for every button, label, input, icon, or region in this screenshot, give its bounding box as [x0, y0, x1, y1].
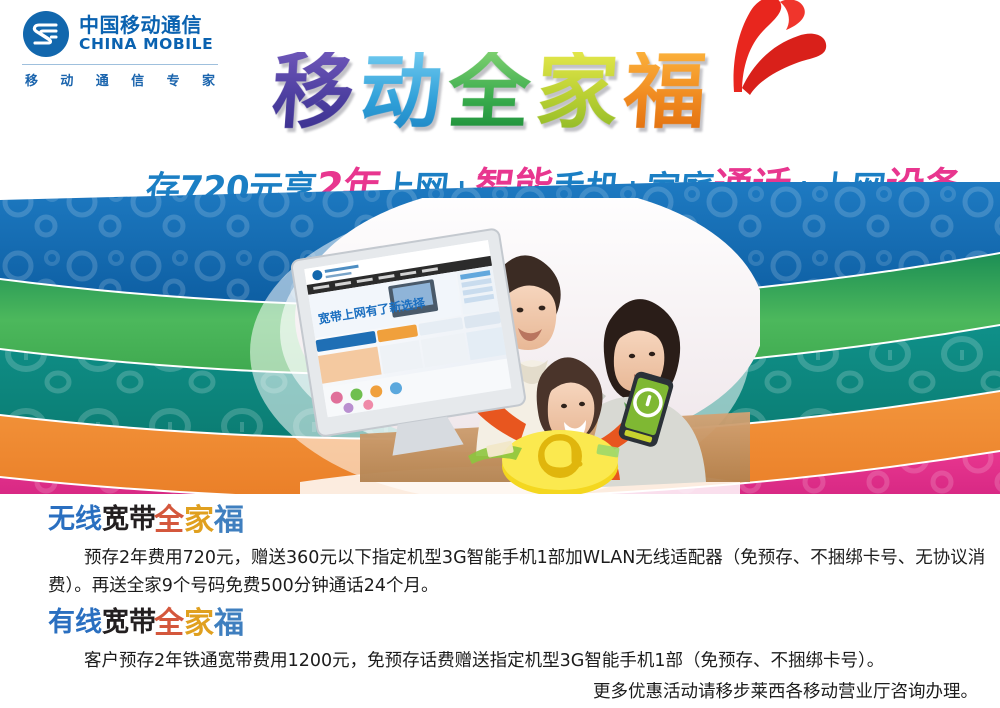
fu-wordmark-2: 全家福: [154, 609, 244, 639]
brand-logo-block: 中国移动通信 CHINA MOBILE 移 动 通 信 专 家: [22, 10, 222, 96]
offer-heading-prefix-blue-2: 有线: [48, 607, 102, 638]
fu-char2-2: 福: [214, 606, 244, 641]
brand-name-cn: 中国移动通信: [79, 15, 213, 36]
fu-char-2: 福: [214, 503, 244, 538]
at-sign-icon: [502, 430, 618, 494]
offer-section-wired: 有线宽带全家福 客户预存2年铁通宽带费用1200元，免预存话费赠送指定机型3G智…: [0, 607, 1000, 675]
brand-name-en: CHINA MOBILE: [79, 36, 213, 52]
hero-title-char-2: 全: [445, 52, 539, 134]
offer2-body-text-0: 客户预存2年铁通宽带费用1200元，免预存话费赠送指定机型3G智能手机1部（免预…: [84, 651, 884, 671]
fu-char-0: 全: [154, 503, 184, 538]
hero-title-char-4: 福: [621, 52, 715, 134]
brand-slogan: 移 动 通 信 专 家: [22, 70, 218, 89]
hero-title-char-0: 移: [269, 52, 363, 134]
offer-heading-prefix-blue: 无线: [48, 504, 102, 535]
slogan-char-1: 动: [60, 70, 73, 89]
footnote-text: 更多优惠活动请移步莱西各移动营业厅咨询办理。: [593, 678, 978, 703]
offer-body-text-0: 预存2年费用720元，赠送360元以下指定机型3G智能手机1部加WLAN无线适配…: [84, 548, 985, 568]
offer-body-line-0: 预存2年费用720元，赠送360元以下指定机型3G智能手机1部加WLAN无线适配…: [48, 544, 1000, 572]
fu-char2-1: 家: [184, 606, 214, 641]
offer-body-line-1: 费）。再送全家9个号码免费500分钟通话24个月。: [48, 572, 1000, 600]
fu-char-1: 家: [184, 503, 214, 538]
hero-title-char-1: 动: [357, 52, 451, 134]
slogan-char-0: 移: [25, 70, 38, 89]
offer-section-wireless: 无线宽带全家福 预存2年费用720元，赠送360元以下指定机型3G智能手机1部加…: [0, 504, 1000, 601]
slogan-char-3: 信: [131, 70, 144, 89]
offer2-body-line-0: 客户预存2年铁通宽带费用1200元，免预存话费赠送指定机型3G智能手机1部（免预…: [48, 647, 1000, 675]
slogan-char-2: 通: [96, 70, 109, 89]
offer-heading-wireless: 无线宽带全家福: [48, 504, 1000, 534]
logo-divider: [22, 64, 218, 65]
family-computer-photo: 宽带上网有了新选择: [280, 198, 760, 494]
hero-title: 移动全家福: [272, 52, 712, 134]
china-mobile-logo-icon: [22, 10, 70, 58]
offer-heading-prefix-dark-2: 宽带: [102, 607, 156, 638]
slogan-char-5: 家: [202, 70, 215, 89]
hero-title-char-3: 家: [533, 52, 627, 134]
fu-char2-0: 全: [154, 606, 184, 641]
poster-canvas: 中国移动通信 CHINA MOBILE 移 动 通 信 专 家 移动全家福 存7…: [0, 0, 1000, 708]
fu-wordmark: 全家福: [154, 506, 244, 536]
offer-body-text-1: 费）。再送全家9个号码免费500分钟通话24个月。: [48, 576, 439, 596]
offer-heading-wired: 有线宽带全家福: [48, 607, 1000, 637]
slogan-char-4: 专: [167, 70, 180, 89]
offer-heading-prefix-dark: 宽带: [102, 504, 156, 535]
